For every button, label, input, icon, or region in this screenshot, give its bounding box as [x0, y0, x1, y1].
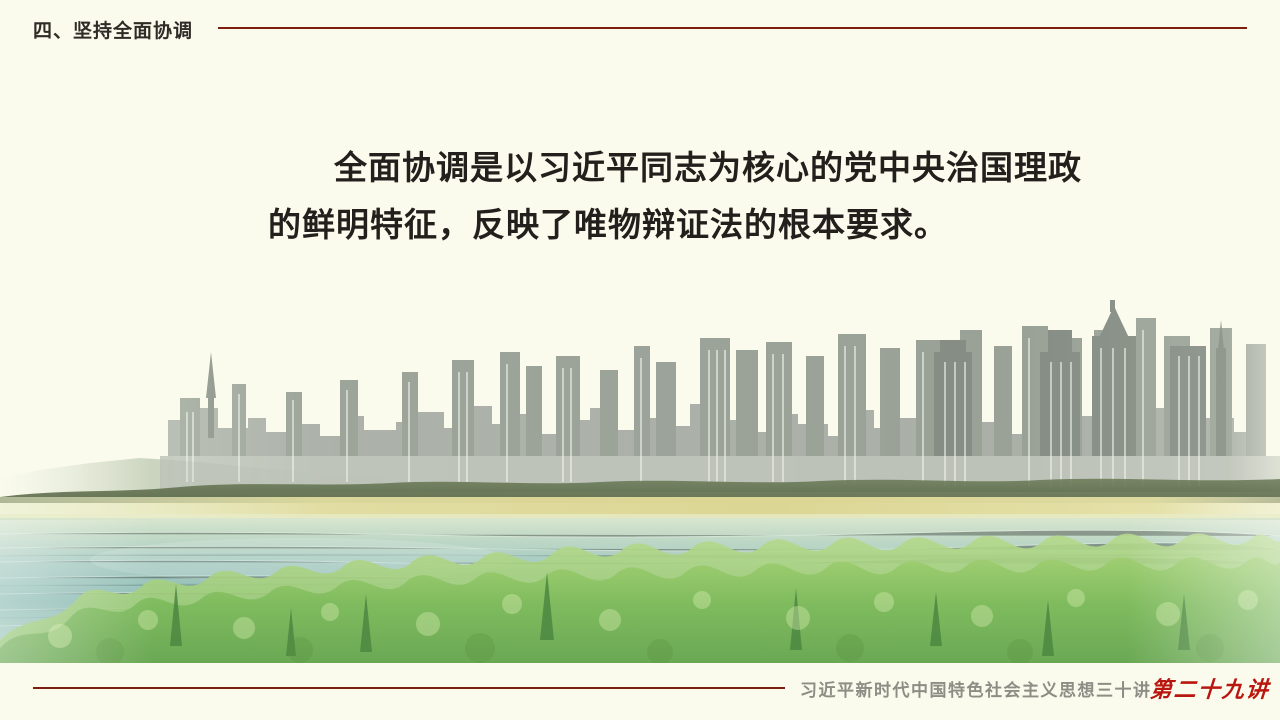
body-text-line-2: 的鲜明特征，反映了唯物辩证法的根本要求。	[268, 197, 1088, 254]
foreground-trees-layer	[0, 520, 1280, 663]
sandbar-layer	[0, 497, 1280, 520]
landscape-illustration	[0, 0, 1280, 663]
slide-body-text: 全面协调是以习近平同志为核心的党中央治国理政 的鲜明特征，反映了唯物辩证法的根本…	[268, 140, 1088, 254]
section-heading: 四、坚持全面协调	[33, 16, 193, 43]
footer-lecture-label: 第二十九讲	[1149, 672, 1271, 704]
header-divider-rule	[218, 27, 1247, 29]
slide-header: 四、坚持全面协调	[0, 0, 1280, 56]
footer-divider-rule	[33, 687, 785, 689]
footer-series-title: 习近平新时代中国特色社会主义思想三十讲	[800, 676, 1152, 701]
body-text-line-1: 全面协调是以习近平同志为核心的党中央治国理政	[268, 140, 1088, 197]
slide-canvas: 四、坚持全面协调 全面协调是以习近平同志为核心的党中央治国理政 的鲜明特征，反映…	[0, 0, 1280, 720]
